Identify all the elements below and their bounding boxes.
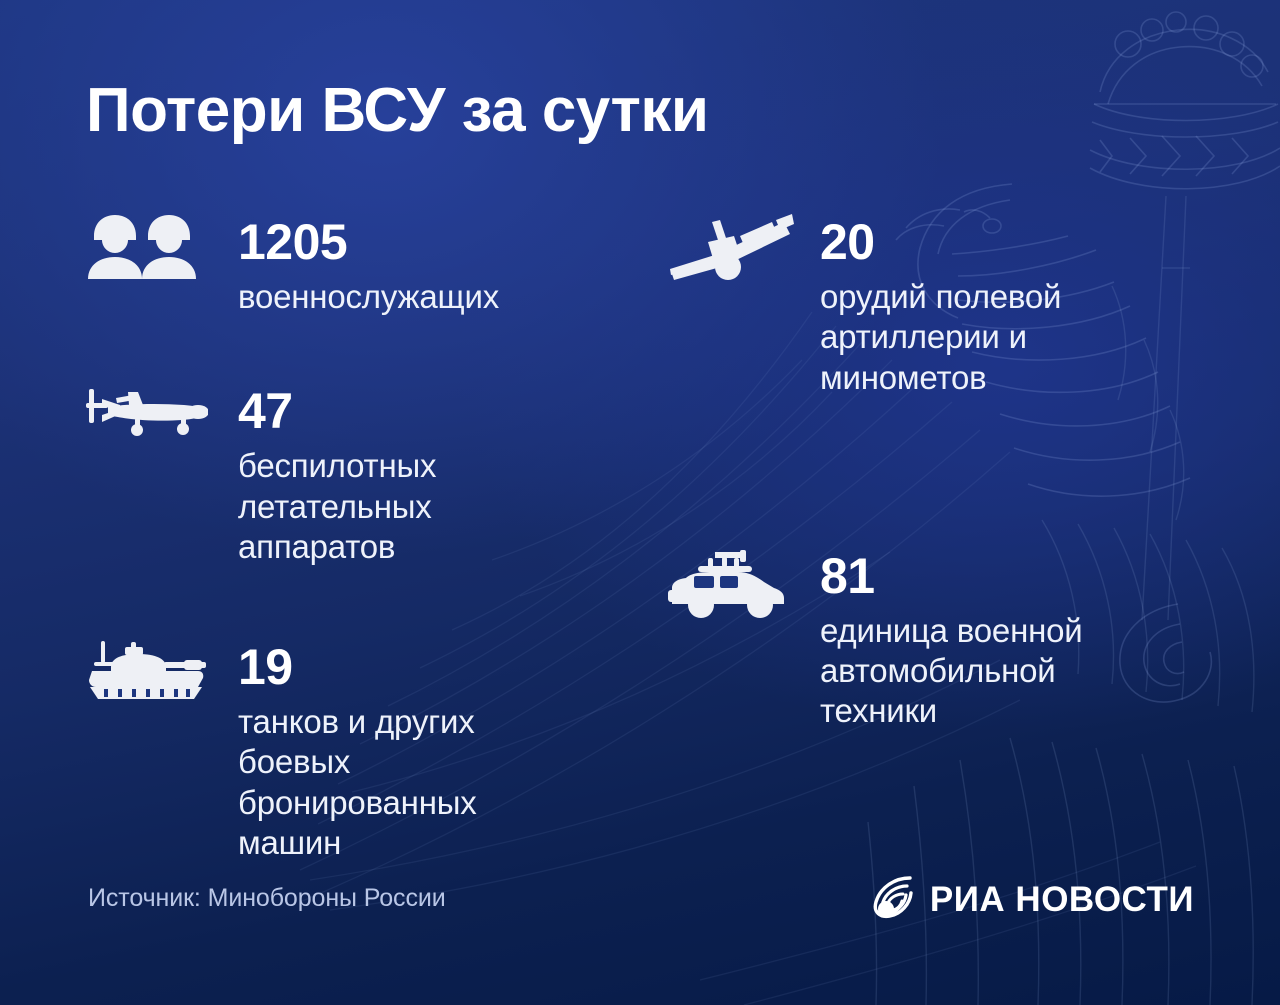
stat-value-tanks: 19	[238, 641, 556, 694]
stats-left-column: 1205 военнослужащих	[86, 214, 556, 863]
source-attribution: Источник: Минобороны России	[88, 884, 446, 913]
stat-item-tanks: 19 танков и других боевых бронированных …	[86, 639, 556, 863]
military-vehicle-icon	[668, 548, 798, 628]
ria-spiral-logo-icon	[870, 875, 914, 924]
brand-logo: РИА НОВОСТИ	[870, 875, 1194, 924]
stat-item-personnel: 1205 военнослужащих	[86, 214, 556, 317]
stats-right-column: 20 орудий полевой артиллерии и минометов	[668, 214, 1138, 732]
stat-label-personnel: военнослужащих	[238, 277, 556, 317]
stat-label-artillery: орудий полевой артиллерии и минометов	[820, 277, 1138, 398]
soldiers-icon	[86, 214, 216, 294]
infographic-root: Потери ВСУ за сутки 1205 во	[0, 0, 1280, 1005]
stat-item-drones: 47 беспилотных летательных аппаратов	[86, 383, 556, 567]
stat-label-drones: беспилотных летательных аппаратов	[238, 446, 556, 567]
page-title: Потери ВСУ за сутки	[86, 78, 709, 143]
stat-item-vehicles: 81 единица военной автомобильной техники	[668, 548, 1138, 732]
stat-label-tanks: танков и других боевых бронированных маш…	[238, 702, 556, 863]
brand-name: РИА НОВОСТИ	[930, 882, 1194, 917]
drone-icon	[86, 383, 216, 463]
stat-label-vehicles: единица военной автомобильной техники	[820, 611, 1138, 732]
stat-value-vehicles: 81	[820, 550, 1138, 603]
stat-value-personnel: 1205	[238, 216, 556, 269]
artillery-icon	[668, 214, 798, 294]
stat-item-artillery: 20 орудий полевой артиллерии и минометов	[668, 214, 1138, 398]
tank-icon	[86, 639, 216, 719]
stat-value-drones: 47	[238, 385, 556, 438]
stat-value-artillery: 20	[820, 216, 1138, 269]
